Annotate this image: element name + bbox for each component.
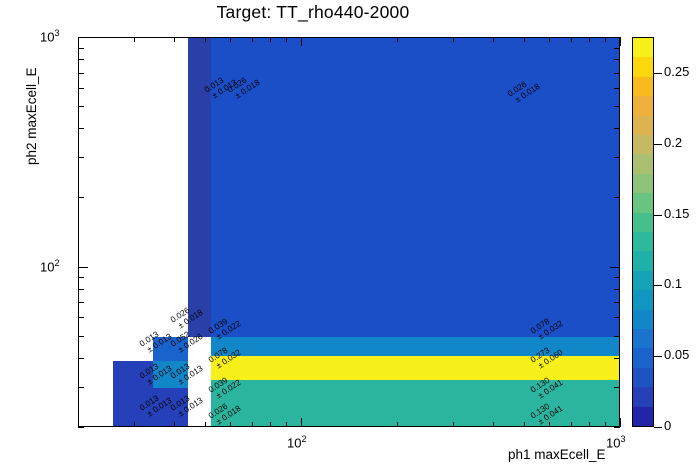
y-minor-tick <box>78 106 84 107</box>
x-minor-tick <box>397 422 398 427</box>
y-minor-tick-right <box>614 128 620 129</box>
x-minor-tick <box>549 422 550 427</box>
y-tick-label: 102 <box>40 258 59 274</box>
y-minor-tick <box>78 88 84 89</box>
y-minor-tick-right <box>614 358 620 359</box>
y-minor-tick <box>78 317 84 318</box>
x-minor-tick-top <box>205 37 206 42</box>
x-minor-tick <box>524 422 525 427</box>
x-minor-tick-top <box>493 37 494 42</box>
y-minor-tick-right <box>614 59 620 60</box>
y-minor-tick-right <box>614 157 620 158</box>
color-scale-swatch <box>633 271 653 290</box>
x-minor-tick <box>286 422 287 427</box>
color-scale-swatch <box>633 407 653 426</box>
x-minor-tick <box>230 422 231 427</box>
y-minor-tick <box>78 197 84 198</box>
x-minor-tick <box>605 422 606 427</box>
color-scale-swatch <box>633 213 653 232</box>
color-scale-bar[interactable] <box>632 37 654 427</box>
y-minor-tick <box>78 289 84 290</box>
y-minor-tick-right <box>614 106 620 107</box>
x-minor-tick-top <box>605 37 606 42</box>
heatmap-plot-area[interactable]: 0.013± 0.0130.026± 0.0180.026± 0.0180.01… <box>78 37 620 427</box>
x-minor-tick-top <box>453 37 454 42</box>
x-minor-tick <box>174 422 175 427</box>
x-minor-tick <box>205 422 206 427</box>
color-scale-swatch <box>633 154 653 173</box>
x-minor-tick-top <box>252 37 253 42</box>
color-scale-swatch <box>633 290 653 309</box>
color-scale-swatch <box>633 329 653 348</box>
x-major-tick-top <box>620 37 621 46</box>
color-scale-tick-label: 0.1 <box>664 276 682 291</box>
color-scale-tick-label: 0.05 <box>664 347 689 362</box>
x-minor-tick-top <box>589 37 590 42</box>
y-minor-tick-right <box>614 289 620 290</box>
x-minor-tick <box>252 422 253 427</box>
x-minor-tick <box>270 422 271 427</box>
x-major-tick <box>301 418 302 427</box>
y-minor-tick-right <box>614 197 620 198</box>
color-scale-swatch <box>633 193 653 212</box>
color-scale-tick-label: 0.25 <box>664 64 689 79</box>
color-scale-tick <box>654 356 662 357</box>
x-major-tick <box>620 418 621 427</box>
x-minor-tick-top <box>286 37 287 42</box>
color-scale-swatch <box>633 96 653 115</box>
y-minor-tick <box>78 59 84 60</box>
y-major-tick-right <box>610 37 620 38</box>
x-minor-tick <box>493 422 494 427</box>
color-scale-swatch <box>633 348 653 367</box>
color-scale-swatch <box>633 251 653 270</box>
x-minor-tick <box>134 422 135 427</box>
x-minor-tick <box>589 422 590 427</box>
color-scale-swatch <box>633 174 653 193</box>
y-minor-tick-right <box>614 88 620 89</box>
color-scale-tick-label: 0.15 <box>664 206 689 221</box>
x-minor-tick <box>571 422 572 427</box>
color-scale-tick <box>654 73 662 74</box>
y-major-tick <box>78 37 88 38</box>
color-scale-swatch <box>633 38 653 57</box>
y-minor-tick-right <box>614 336 620 337</box>
y-minor-tick <box>78 128 84 129</box>
y-major-tick <box>78 267 88 268</box>
y-minor-tick-right <box>614 73 620 74</box>
x-minor-tick-top <box>571 37 572 42</box>
color-scale-swatch <box>633 368 653 387</box>
x-tick-label: 102 <box>287 434 306 450</box>
y-minor-tick <box>78 48 84 49</box>
x-minor-tick-top <box>524 37 525 42</box>
y-minor-tick-right <box>614 427 620 428</box>
x-minor-tick-top <box>174 37 175 42</box>
y-minor-tick <box>78 358 84 359</box>
color-scale-tick-label: 0.2 <box>664 135 682 150</box>
color-scale-swatch <box>633 232 653 251</box>
color-scale-tick <box>654 285 662 286</box>
x-major-tick-top <box>301 37 302 46</box>
y-minor-tick <box>78 302 84 303</box>
color-scale-swatch <box>633 387 653 406</box>
x-minor-tick-top <box>549 37 550 42</box>
x-minor-tick <box>453 422 454 427</box>
y-minor-tick <box>78 277 84 278</box>
y-minor-tick-right <box>614 277 620 278</box>
color-scale-swatch <box>633 310 653 329</box>
y-minor-tick <box>78 336 84 337</box>
x-minor-tick-top <box>134 37 135 42</box>
page-title: Target: TT_rho440-2000 <box>0 2 626 23</box>
y-axis-label: ph2 maxEcell_E <box>24 67 39 165</box>
color-scale-swatch <box>633 57 653 76</box>
color-scale-swatch <box>633 135 653 154</box>
y-minor-tick <box>78 157 84 158</box>
y-minor-tick <box>78 73 84 74</box>
heatmap-cell <box>211 38 620 337</box>
root-canvas: Target: TT_rho440-2000 0.013± 0.0130.026… <box>0 0 696 472</box>
y-minor-tick-right <box>614 48 620 49</box>
color-scale-tick <box>654 144 662 145</box>
color-scale-tick <box>654 215 662 216</box>
y-minor-tick-right <box>614 387 620 388</box>
y-minor-tick-right <box>614 317 620 318</box>
y-minor-tick-right <box>614 302 620 303</box>
x-axis-label: ph1 maxEcell_E <box>508 447 606 462</box>
y-major-tick-right <box>610 267 620 268</box>
x-minor-tick-top <box>270 37 271 42</box>
color-scale-tick-label: 0 <box>664 418 671 433</box>
color-scale-swatch <box>633 77 653 96</box>
color-scale-swatch <box>633 116 653 135</box>
x-tick-label: 103 <box>606 434 625 450</box>
y-minor-tick <box>78 427 84 428</box>
x-minor-tick-top <box>397 37 398 42</box>
y-minor-tick <box>78 387 84 388</box>
color-scale-tick <box>654 427 662 428</box>
x-minor-tick-top <box>230 37 231 42</box>
y-tick-label: 103 <box>40 28 59 44</box>
